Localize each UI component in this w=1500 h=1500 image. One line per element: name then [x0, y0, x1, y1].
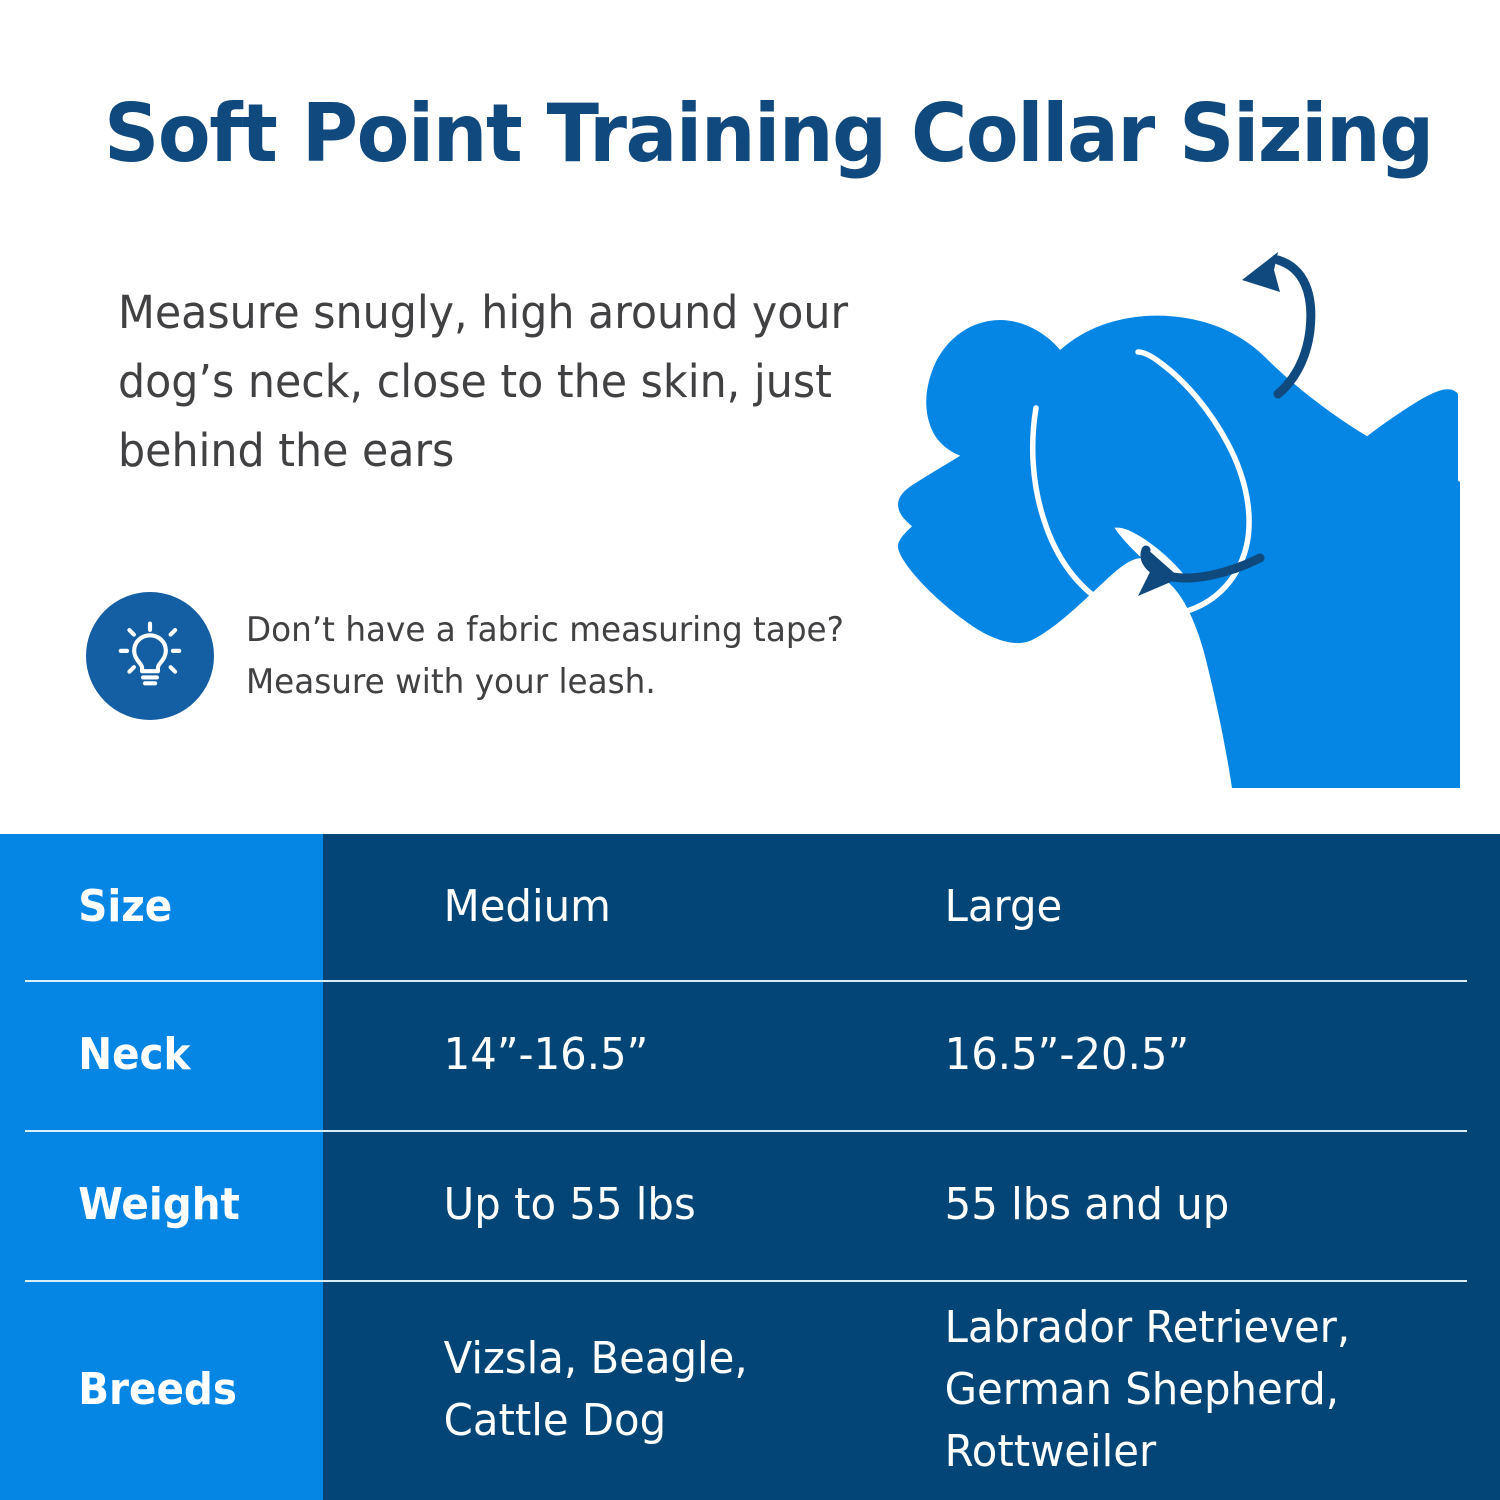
cell-size-medium: Medium	[323, 876, 798, 938]
dog-head-illustration	[880, 248, 1460, 788]
table-row-neck: Neck 14”-16.5” 16.5”-20.5”	[0, 980, 1500, 1130]
measure-instructions: Measure snugly, high around your dog’s n…	[118, 278, 859, 485]
sizing-infographic: Soft Point Training Collar Sizing Measur…	[0, 0, 1500, 1500]
table-row-weight: Weight Up to 55 lbs 55 lbs and up	[0, 1130, 1500, 1280]
cell-breeds-large: Labrador Retriever, German Shepherd, Rot…	[823, 1297, 1466, 1483]
measure-arrow-upper-curve	[1278, 260, 1311, 394]
tip-badge	[86, 592, 214, 720]
page-title: Soft Point Training Collar Sizing	[104, 86, 1371, 182]
table-row-breeds: Breeds Vizsla, Beagle, Cattle Dog Labrad…	[0, 1280, 1500, 1500]
lightbulb-icon	[111, 617, 189, 695]
row-label-weight: Weight	[0, 1179, 297, 1231]
row-label-neck: Neck	[0, 1029, 297, 1081]
row-label-breeds: Breeds	[0, 1364, 297, 1416]
cell-breeds-medium: Vizsla, Beagle, Cattle Dog	[323, 1328, 798, 1452]
table-row-size: Size Medium Large	[0, 834, 1500, 980]
dog-head-svg	[880, 248, 1460, 788]
row-label-size: Size	[0, 881, 297, 933]
tip-callout: Don’t have a fabric measuring tape? Meas…	[86, 592, 886, 720]
cell-size-large: Large	[823, 876, 1466, 938]
cell-weight-large: 55 lbs and up	[823, 1174, 1466, 1236]
cell-weight-medium: Up to 55 lbs	[323, 1174, 798, 1236]
cell-neck-large: 16.5”-20.5”	[823, 1024, 1466, 1086]
measure-arrow-head-upper	[1242, 252, 1280, 292]
tip-text: Don’t have a fabric measuring tape? Meas…	[246, 604, 860, 708]
cell-neck-medium: 14”-16.5”	[323, 1024, 798, 1086]
